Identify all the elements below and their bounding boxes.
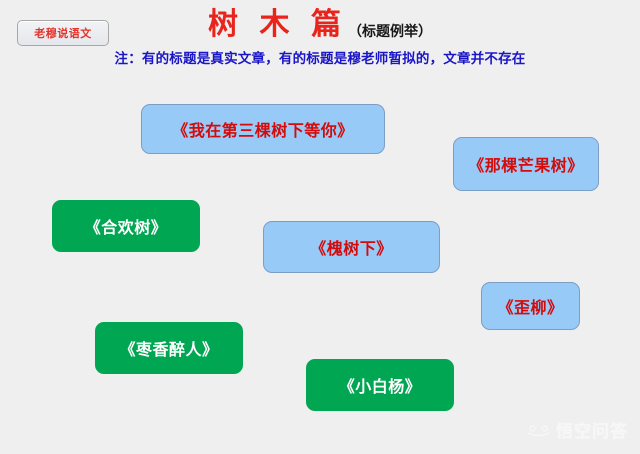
title-box-label: 《合欢树》 xyxy=(85,214,168,238)
title-box[interactable]: 《那棵芒果树》 xyxy=(453,137,599,191)
page-title-main: 树 木 篇 xyxy=(208,8,348,41)
title-box-label: 《枣香醉人》 xyxy=(119,336,218,360)
heading-block: 树 木 篇（标题例举） 注：有的标题是真实文章，有的标题是穆老师暂拟的，文章并不… xyxy=(0,10,640,67)
title-box-label: 《槐树下》 xyxy=(310,235,393,259)
page-title-subnote: （标题例举） xyxy=(348,25,432,40)
title-box[interactable]: 《合欢树》 xyxy=(52,200,200,252)
title-box[interactable]: 《槐树下》 xyxy=(263,221,440,273)
title-box[interactable]: 《歪柳》 xyxy=(481,282,580,330)
title-box-label: 《小白杨》 xyxy=(339,373,422,397)
watermark: 悟空问答 xyxy=(527,417,628,442)
wukong-logo-icon xyxy=(527,423,550,437)
title-box[interactable]: 《我在第三棵树下等你》 xyxy=(141,104,385,154)
title-box-label: 《歪柳》 xyxy=(497,294,563,318)
title-box[interactable]: 《枣香醉人》 xyxy=(95,322,243,374)
title-box[interactable]: 《小白杨》 xyxy=(306,359,454,411)
page-note: 注：有的标题是真实文章，有的标题是穆老师暂拟的，文章并不存在 xyxy=(0,47,640,67)
page-title: 树 木 篇（标题例举） xyxy=(0,10,640,40)
watermark-label: 悟空问答 xyxy=(556,417,628,442)
slide-canvas: 老穆说语文 树 木 篇（标题例举） 注：有的标题是真实文章，有的标题是穆老师暂拟… xyxy=(0,0,640,454)
title-box-label: 《我在第三棵树下等你》 xyxy=(172,117,354,141)
title-box-label: 《那棵芒果树》 xyxy=(468,152,584,176)
